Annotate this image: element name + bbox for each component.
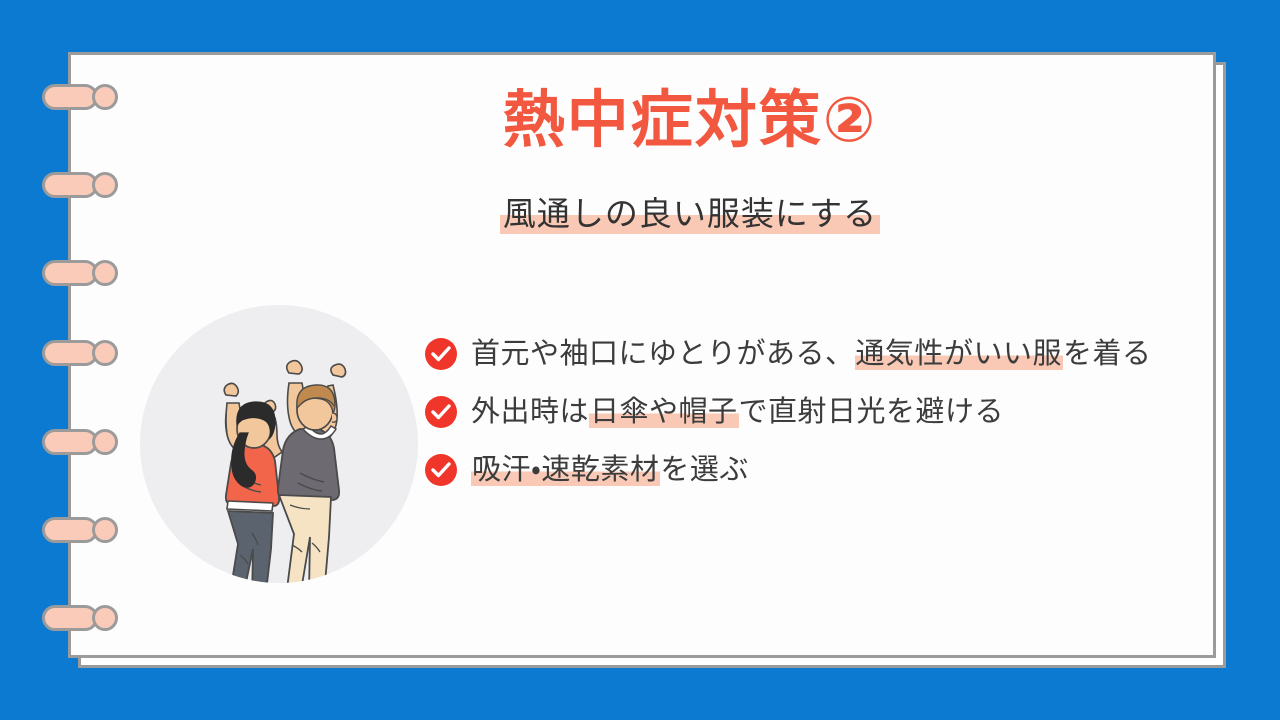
bullet-text-run: を選ぶ [660, 454, 749, 486]
bullet-text-run: を着る [1063, 338, 1152, 370]
slide-subtitle: 風通しの良い服装にする [500, 192, 880, 236]
slide-title: 熱中症対策② [340, 86, 1040, 156]
bullet-text: 吸汗・速乾素材を選ぶ [471, 454, 749, 486]
slide-content: 熱中症対策② 風通しの良い服装にする [0, 0, 1280, 720]
check-circle-icon [425, 396, 457, 428]
bullet-text: 外出時は日傘や帽子で直射日光を避ける [471, 396, 1004, 428]
bullet-list: 首元や袖口にゆとりがある、通気性がいい服を着る外出時は日傘や帽子で直射日光を避け… [425, 325, 1195, 499]
slide-root: 熱中症対策② 風通しの良い服装にする [0, 0, 1280, 720]
bullet-text: 首元や袖口にゆとりがある、通気性がいい服を着る [471, 338, 1152, 370]
bullet-highlight: 日傘や帽子 [589, 396, 739, 428]
bullet-text-run: で直射日光を避ける [739, 396, 1005, 428]
bullet-item: 吸汗・速乾素材を選ぶ [425, 441, 1195, 499]
bullet-item: 首元や袖口にゆとりがある、通気性がいい服を着る [425, 325, 1195, 383]
slide-subtitle-text: 風通しの良い服装にする [503, 195, 877, 232]
slide-subtitle-wrap: 風通しの良い服装にする [340, 192, 1040, 236]
check-circle-icon [425, 454, 457, 486]
check-circle-icon [425, 338, 457, 370]
bullet-text-run: 首元や袖口にゆとりがある、 [471, 338, 855, 370]
bullet-highlight: 通気性がいい服 [855, 338, 1064, 370]
bullet-item: 外出時は日傘や帽子で直射日光を避ける [425, 383, 1195, 441]
bullet-highlight: 吸汗・速乾素材 [471, 454, 660, 486]
bullet-text-run: 外出時は [471, 396, 589, 428]
illustration-two-people-icon [140, 305, 418, 583]
